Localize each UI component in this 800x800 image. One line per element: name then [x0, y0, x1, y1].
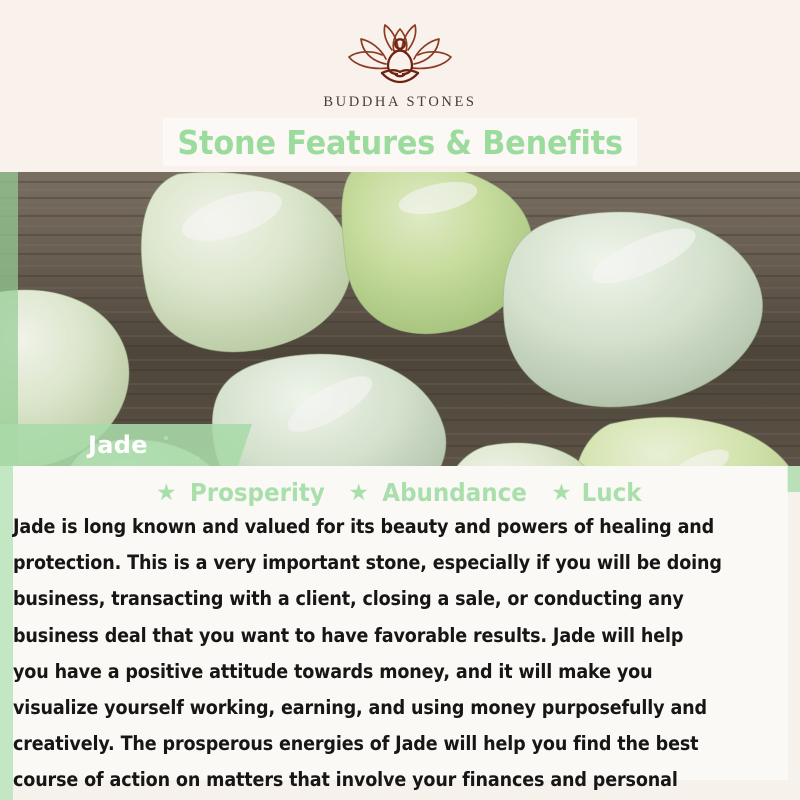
- star-icon: ★: [348, 481, 369, 504]
- stone-name-band: Jade: [0, 424, 252, 466]
- star-icon: ★: [156, 481, 177, 504]
- benefits-row: ★ Prosperity ★ Abundance ★ Luck: [0, 478, 800, 507]
- brand-name: BUDDHA STONES: [323, 94, 476, 111]
- lotus-meditation-icon: [340, 22, 460, 88]
- benefit-label: Abundance: [382, 478, 527, 507]
- stone-photo-illustration: [0, 172, 800, 466]
- benefit-label: Luck: [581, 478, 641, 507]
- frame-accent-left-lower: [0, 466, 13, 800]
- star-icon: ★: [551, 481, 572, 504]
- infographic-card: BUDDHA STONES Stone Features & Benefits: [0, 0, 800, 800]
- frame-accent-left-photo: [0, 172, 18, 466]
- benefit-item: ★ Luck: [551, 478, 644, 507]
- stone-description: Jade is long known and valued for its be…: [13, 509, 722, 800]
- brand-logo: BUDDHA STONES: [0, 22, 800, 111]
- benefit-item: ★ Abundance: [348, 478, 533, 507]
- page-title: Stone Features & Benefits: [177, 126, 623, 159]
- benefit-label: Prosperity: [190, 478, 325, 507]
- title-banner: Stone Features & Benefits: [163, 118, 637, 166]
- stone-name-label: Jade: [88, 431, 148, 459]
- benefit-item: ★ Prosperity: [156, 478, 330, 507]
- stone-photo: [0, 172, 800, 466]
